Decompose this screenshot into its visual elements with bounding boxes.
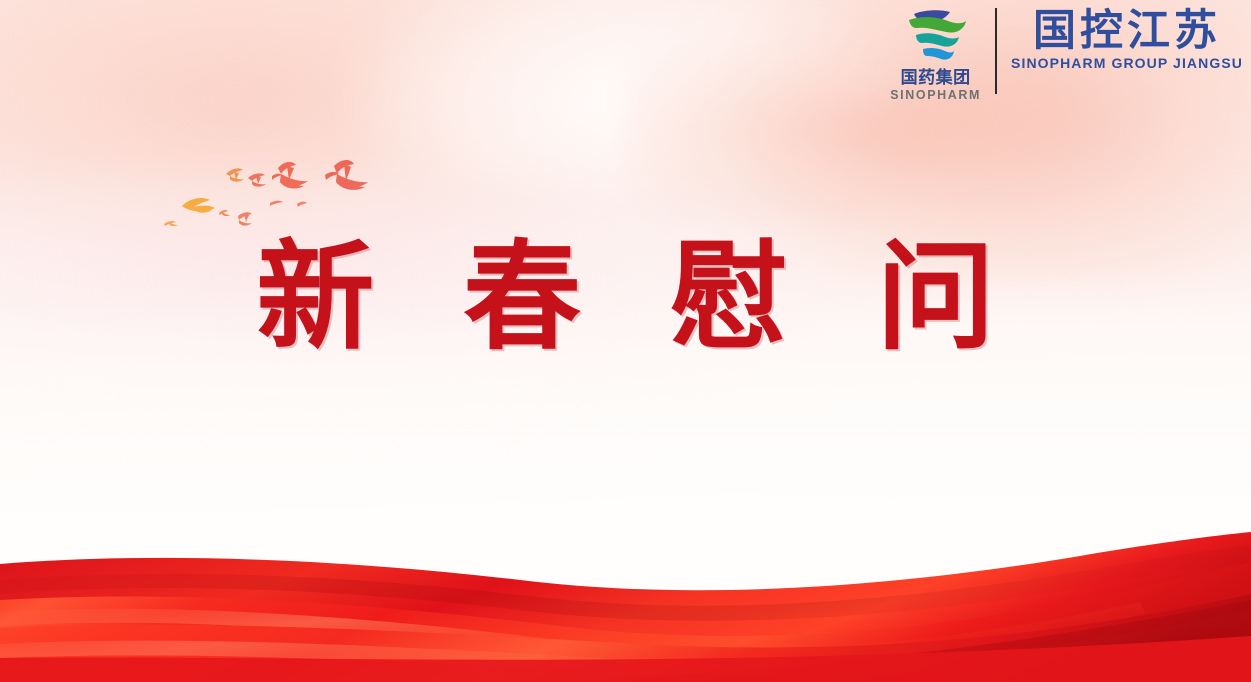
jiangsu-brand-logo: 国控江苏 SINOPHARM GROUP JIANGSU	[1011, 6, 1243, 70]
logo-divider	[995, 8, 997, 94]
brand-name-en: SINOPHARM GROUP JIANGSU	[1011, 56, 1243, 70]
sinopharm-group-name-en: SINOPHARM	[890, 89, 981, 102]
sinopharm-spiral-icon	[898, 8, 974, 66]
brand-logo-cluster: 国药集团 SINOPHARM 国控江苏 SINOPHARM GROUP JIAN…	[890, 6, 1243, 102]
new-year-greeting-poster: 新 春 慰 问 国药集团 SINOPHARM 国控江苏 SINOPHARM GR…	[0, 0, 1251, 682]
page-title: 新 春 慰 问	[0, 228, 1251, 370]
brand-name-cn: 国控江苏	[1033, 8, 1221, 54]
sinopharm-group-logo: 国药集团 SINOPHARM	[890, 6, 981, 102]
sinopharm-group-name-cn: 国药集团	[901, 69, 971, 86]
